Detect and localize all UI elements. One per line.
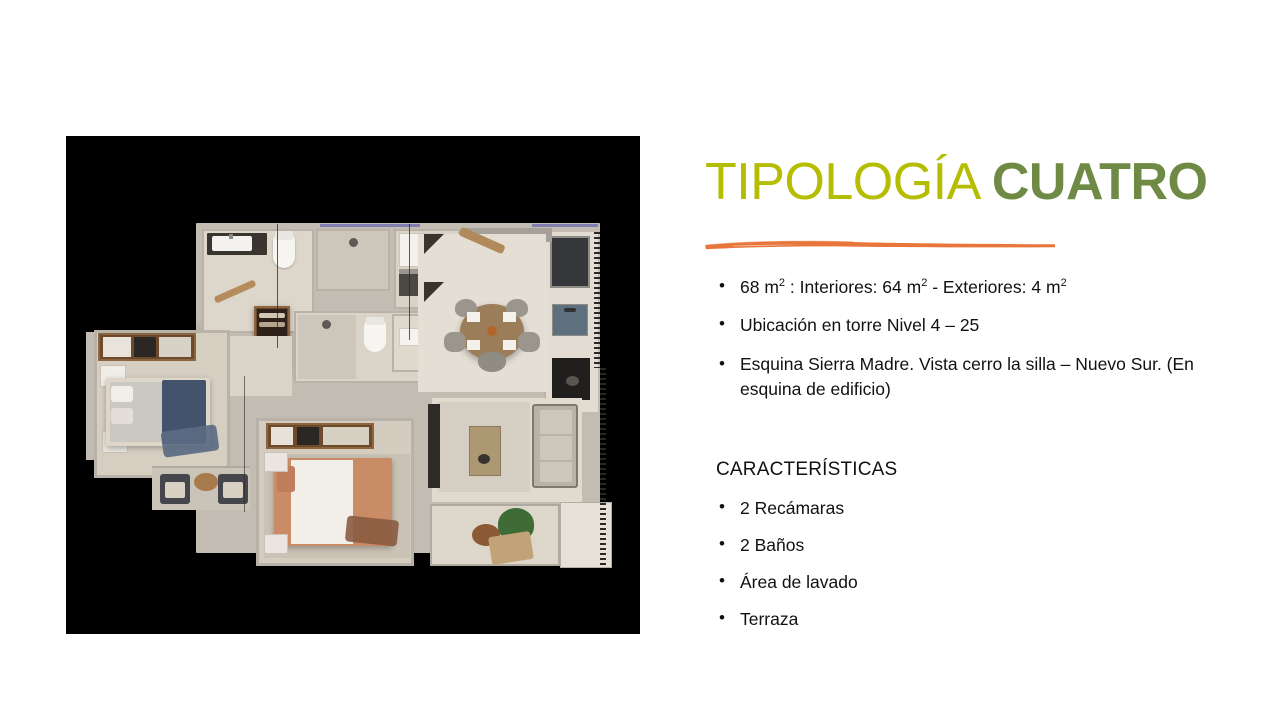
shower-head-icon [349, 238, 358, 247]
decor-bowl-icon [478, 454, 490, 464]
features-list: 2 Recámaras 2 Baños Área de lavado Terra… [705, 497, 1105, 645]
slide-root: TIPOLOGÍA CUATRO 68 m2 : Interiores: 64 … [0, 0, 1280, 720]
sofa-cushion-icon [540, 436, 572, 460]
side-table-icon [194, 473, 218, 491]
hanging-clothes-icon [159, 337, 191, 357]
list-item-banos: 2 Baños [705, 534, 1105, 556]
dining-chair-icon [478, 352, 506, 372]
pillow-icon [111, 408, 133, 424]
pillow-icon [111, 386, 133, 402]
facade-glass-strip [320, 224, 420, 227]
spec-area-before: 68 m [740, 277, 779, 297]
facade-glass-strip [532, 224, 598, 227]
list-item-area-lavado: Área de lavado [705, 571, 1105, 593]
balcony-rail-right-icon [600, 368, 606, 568]
list-item-location: Esquina Sierra Madre. Vista cerro la sil… [705, 352, 1205, 402]
refrigerator-icon [550, 236, 590, 288]
floorplan-image [66, 136, 640, 634]
coffee-table-icon [469, 426, 501, 476]
faucet-icon [564, 308, 576, 312]
floorplan-render [66, 136, 640, 634]
list-item-level: Ubicación en torre Nivel 4 – 25 [705, 314, 1205, 336]
section-line [244, 376, 245, 512]
dining-chair-icon [444, 332, 466, 352]
specs-list: 68 m2 : Interiores: 64 m2 - Exteriores: … [705, 276, 1205, 418]
dining-chair-icon [518, 332, 540, 352]
stove-burner-icon [566, 376, 579, 386]
place-setting-icon [503, 312, 516, 322]
place-setting-icon [503, 340, 516, 350]
spec-area-mid: : Interiores: 64 m [785, 277, 921, 297]
superscript-two: 2 [1061, 277, 1067, 289]
sofa-cushion-icon [540, 462, 572, 482]
folded-clothes-icon [259, 313, 285, 318]
toilet-two-tank-icon [366, 317, 384, 325]
section-line [409, 224, 410, 340]
armchair-cushion-icon [223, 482, 243, 498]
hanging-clothes-icon [297, 427, 319, 445]
features-heading: CARACTERÍSTICAS [716, 458, 897, 482]
list-item-recamaras: 2 Recámaras [705, 497, 1105, 519]
armchair-cushion-icon [165, 482, 185, 498]
page-title: TIPOLOGÍA CUATRO [705, 152, 1225, 212]
bed-throw-icon [345, 515, 399, 546]
folded-clothes-icon [259, 322, 285, 327]
list-item-terraza: Terraza [705, 608, 1105, 630]
shower-head-two-icon [322, 320, 331, 329]
nightstand-icon [264, 452, 288, 472]
place-setting-icon [467, 340, 480, 350]
spec-area-mid-two: - Exteriores: 4 m [927, 277, 1060, 297]
balcony-rail-right-icon [594, 232, 600, 368]
hanging-clothes-icon [134, 337, 156, 357]
brush-stroke-icon [703, 236, 1058, 252]
hanging-clothes-icon [271, 427, 293, 445]
hanging-clothes-icon [323, 427, 369, 445]
sofa-cushion-icon [540, 410, 572, 434]
bed-sheet-white-icon [291, 460, 353, 544]
title-part-two: CUATRO [992, 153, 1208, 211]
hanging-clothes-icon [103, 337, 131, 357]
place-setting-icon [467, 312, 480, 322]
title-part-one: TIPOLOGÍA [705, 153, 992, 211]
title-underline-brush [703, 236, 1058, 252]
tv-console-icon [428, 404, 440, 488]
centerpiece-icon [487, 326, 497, 336]
faucet-icon [229, 234, 233, 239]
list-item-area: 68 m2 : Interiores: 64 m2 - Exteriores: … [705, 276, 1205, 298]
section-line [277, 224, 278, 348]
nightstand-icon [264, 534, 288, 554]
